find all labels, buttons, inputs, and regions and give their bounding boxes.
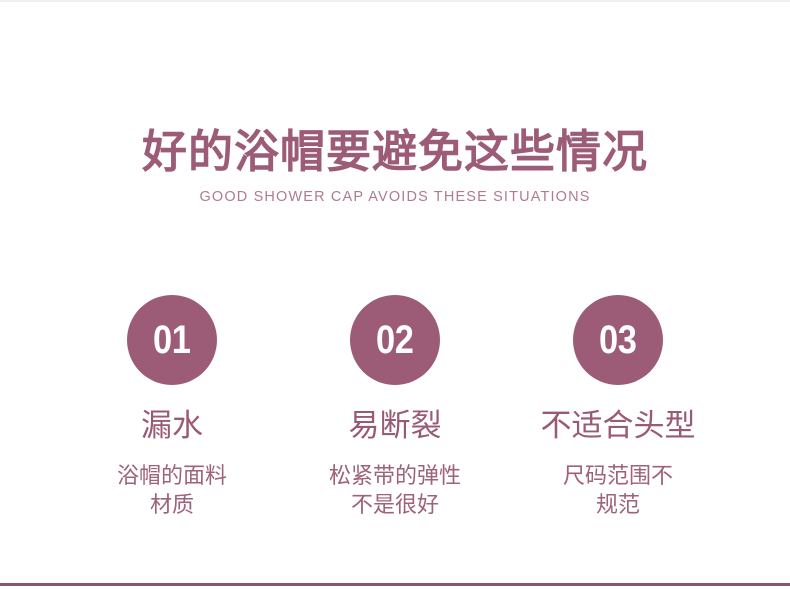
title-block: 好的浴帽要避免这些情况 GOOD SHOWER CAP AVOIDS THESE… (0, 124, 790, 205)
card-description: 尺码范围不 规范 (563, 461, 673, 520)
badge-number: 01 (153, 320, 190, 360)
bottom-divider (0, 583, 790, 586)
feature-card: 02 易断裂 松紧带的弹性 不是很好 (284, 295, 507, 520)
feature-card-list: 01 漏水 浴帽的面料 材质 02 易断裂 松紧带的弹性 不是很好 03 不适合… (0, 295, 790, 520)
step-badge-01: 01 (127, 295, 217, 385)
page-subtitle: GOOD SHOWER CAP AVOIDS THESE SITUATIONS (0, 189, 790, 205)
card-description: 浴帽的面料 材质 (117, 461, 227, 520)
card-description: 松紧带的弹性 不是很好 (329, 461, 461, 520)
step-badge-03: 03 (573, 295, 663, 385)
promo-page: 好的浴帽要避免这些情况 GOOD SHOWER CAP AVOIDS THESE… (0, 0, 790, 589)
step-badge-02: 02 (350, 295, 440, 385)
page-title: 好的浴帽要避免这些情况 (0, 124, 790, 180)
card-heading: 易断裂 (349, 408, 442, 444)
card-heading: 漏水 (141, 408, 203, 444)
card-heading: 不适合头型 (541, 408, 696, 444)
feature-card: 01 漏水 浴帽的面料 材质 (61, 295, 284, 520)
feature-card: 03 不适合头型 尺码范围不 规范 (507, 295, 730, 520)
badge-number: 03 (599, 320, 636, 360)
badge-number: 02 (376, 320, 413, 360)
